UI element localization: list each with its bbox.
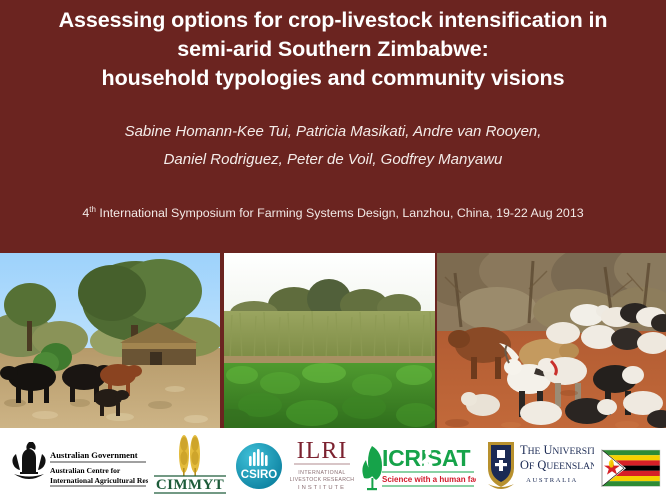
title-line-2: semi-arid Southern Zimbabwe: — [0, 35, 666, 64]
icrisat-tagline: Science with a human face — [382, 475, 476, 484]
conference-text: International Symposium for Farming Syst… — [96, 206, 584, 220]
ilri-wordmark: ILRI — [297, 438, 348, 464]
uq-line-1: THE UNIVERSITY — [520, 443, 594, 457]
icrisat-logo: ICRISAT Science with a human face — [358, 428, 476, 500]
conference-ordinal-suffix: th — [89, 205, 96, 214]
title-line-3: household typologies and community visio… — [0, 64, 666, 93]
aciar-logo-image: Australian Government Australian Centre … — [8, 428, 148, 500]
aciar-logo: Australian Government Australian Centre … — [8, 428, 148, 500]
aciar-line-3: International Agricultural Research — [50, 476, 148, 485]
ilri-subtitle-3: INSTITUTE — [298, 485, 346, 491]
uq-logo-image: THE UNIVERSITY OF QUEENSLAND AUSTRALIA — [482, 428, 594, 500]
zimbabwe-flag — [600, 428, 662, 500]
crop-field-photo — [224, 253, 435, 428]
ilri-subtitle-1: INTERNATIONAL — [298, 470, 346, 476]
title-line-1: Assessing options for crop-livestock int… — [0, 6, 666, 35]
author-line-1: Sabine Homann-Kee Tui, Patricia Masikati… — [0, 118, 666, 146]
conference-info: 4th International Symposium for Farming … — [0, 205, 666, 220]
goat-herd-image — [437, 253, 666, 428]
university-of-queensland-logo: THE UNIVERSITY OF QUEENSLAND AUSTRALIA — [482, 428, 594, 500]
aciar-line-1: Australian Government — [50, 450, 138, 460]
presentation-slide: Assessing options for crop-livestock int… — [0, 0, 666, 500]
cimmyt-logo-image: CIMMYT — [152, 428, 228, 500]
cattle-homestead-image — [0, 253, 220, 428]
csiro-wordmark: CSIRO — [241, 469, 277, 481]
csiro-logo-image: CSIRO — [230, 428, 288, 500]
ilri-logo-image: ILRI INTERNATIONAL LIVESTOCK RESEARCH IN… — [288, 428, 356, 500]
zimbabwe-flag-image — [600, 428, 662, 500]
author-list: Sabine Homann-Kee Tui, Patricia Masikati… — [0, 118, 666, 174]
icrisat-logo-image: ICRISAT Science with a human face — [358, 428, 476, 500]
crop-field-image — [224, 253, 435, 428]
cimmyt-wordmark: CIMMYT — [156, 477, 224, 493]
goat-herd-photo — [437, 253, 666, 428]
photo-strip — [0, 253, 666, 428]
aciar-line-2: Australian Centre for — [50, 466, 121, 475]
slide-title: Assessing options for crop-livestock int… — [0, 0, 666, 93]
cattle-homestead-photo — [0, 253, 220, 428]
conference-line: 4th International Symposium for Farming … — [0, 205, 666, 220]
cimmyt-logo: CIMMYT — [152, 428, 228, 500]
uq-line-2: OF QUEENSLAND — [520, 458, 594, 472]
author-line-2: Daniel Rodriguez, Peter de Voil, Godfrey… — [0, 146, 666, 174]
uq-line-3: AUSTRALIA — [526, 477, 578, 484]
ilri-logo: ILRI INTERNATIONAL LIVESTOCK RESEARCH IN… — [288, 428, 356, 500]
sponsor-logo-bar: Australian Government Australian Centre … — [0, 428, 666, 500]
csiro-logo: CSIRO — [230, 428, 288, 500]
ilri-subtitle-2: LIVESTOCK RESEARCH — [290, 477, 355, 483]
